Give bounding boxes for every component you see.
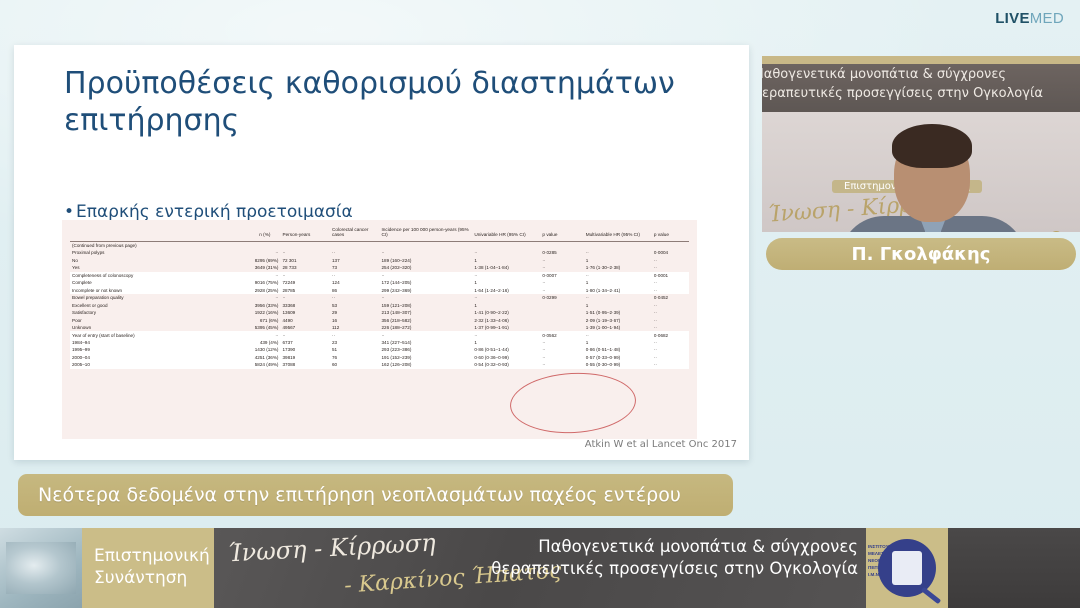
footer-institute-logo-circle [878, 539, 936, 597]
table-cell-value: 293 (223–386) [379, 346, 472, 353]
session-caption-text: Νεότερα δεδομένα στην επιτήρηση νεοπλασμ… [18, 484, 681, 506]
table-cell-value: ·· [379, 331, 472, 338]
table-cell-value: 16 [330, 317, 380, 324]
table-cell-value: 3649 (31%) [219, 264, 281, 271]
table-cell-value: 226 (188–272) [379, 324, 472, 331]
table-cell-value: 23 [330, 339, 380, 346]
col-header-person-years: Person-years [280, 226, 330, 241]
magnifier-icon [921, 587, 941, 604]
livemed-logo-med: MED [1030, 10, 1064, 27]
table-cell-value: ·· [379, 249, 472, 256]
table-cell-value: ·· [652, 361, 689, 368]
table-cell-value: 299 (242–369) [379, 287, 472, 294]
table-row: 2005–105824 (49%)3708860162 (126–208)0·5… [70, 361, 689, 368]
table-cell-value: ·· [540, 361, 583, 368]
table-cell-label: No [70, 257, 219, 264]
table-cell-value: 0·0001 [652, 272, 689, 279]
table-cell-value: ·· [472, 294, 540, 301]
table-cell-value: ·· [584, 294, 652, 301]
table-cell-value: 1 [584, 302, 652, 309]
table-row: Excellent or good3956 (33%)3336853159 (1… [70, 302, 689, 309]
table-cell-value: 39819 [280, 354, 330, 361]
table-cell-value: 5824 (49%) [219, 361, 281, 368]
table-cell-value: 76 [330, 354, 380, 361]
table-cell-value: 0·0004 [652, 249, 689, 256]
table-cell-value: ·· [540, 279, 583, 286]
table-cell-label: Yes [70, 264, 219, 271]
table-cell-value: ·· [652, 339, 689, 346]
table-cell-value: ·· [219, 249, 281, 256]
table-cell-label: Unknown [70, 324, 219, 331]
video-banner-strip [762, 56, 1080, 64]
table-cell-value: ·· [219, 294, 281, 301]
table-cell-value: 159 (121–208) [379, 302, 472, 309]
table-cell-value: 0·0299 [540, 294, 583, 301]
table-cell-value: 1922 (16%) [219, 309, 281, 316]
table-cell-value: ·· [330, 272, 380, 279]
table-cell-value: 9016 (75%) [219, 279, 281, 286]
table-cell-value: 8295 (69%) [219, 257, 281, 264]
table-cell-value: 86 [330, 287, 380, 294]
table-cell-value: 0·0682 [652, 331, 689, 338]
table-cell-value: 137 [330, 257, 380, 264]
table-cell-value: ·· [540, 257, 583, 264]
table-row: Incomplete or not known2928 (25%)2878586… [70, 287, 689, 294]
table-cell-value: 0·0452 [652, 294, 689, 301]
table-cell-value: 72249 [280, 279, 330, 286]
table-cell-value: 4251 (36%) [219, 354, 281, 361]
col-header-multivariable-hr: Multivariable HR (95% CI) [584, 226, 652, 241]
table-row: Bowel preparation quality··········0·029… [70, 294, 689, 301]
col-header-n: n (%) [219, 226, 281, 241]
table-cell-value: 1·51 (0·95–2·39) [584, 309, 652, 316]
stage-background: LIVEMED Προϋποθέσεις καθορισμού διαστημά… [0, 0, 1080, 608]
video-backdrop-banner: Παθογενετικά μονοπάτια & σύγχρονες θεραπ… [762, 64, 1080, 112]
table-cell-value: 1 [584, 257, 652, 264]
col-header-pvalue-1: p value [540, 226, 583, 241]
table-cell-value [540, 317, 583, 324]
footer-title-line2: θεραπευτικές προσεγγίσεις στην Ογκολογία [478, 558, 858, 580]
table-cell-value: ·· [472, 249, 540, 256]
table-cell-value: 439 (4%) [219, 339, 281, 346]
table-cell-value: 0·55 (0·30–0·99) [584, 361, 652, 368]
table-cell-value: 671 (6%) [219, 317, 281, 324]
slide-bullet-level1-text: Επαρκής εντερική προετοιμασία [76, 202, 353, 222]
col-header-incidence: Incidence per 100 000 person-years (95% … [379, 226, 472, 241]
table-cell-value: 1 [472, 279, 540, 286]
table-cell-value: ·· [219, 331, 281, 338]
table-header-row: n (%) Person-years Colorectal cancer cas… [70, 226, 689, 241]
livemed-logo: LIVEMED [995, 10, 1064, 27]
footer-meeting-label: Επιστημονική Συνάντηση [82, 528, 214, 608]
table-cell-value: 6737 [280, 339, 330, 346]
table-cell-value: ·· [330, 249, 380, 256]
table-row: 1995–991430 (12%)1739051293 (223–386)0·8… [70, 346, 689, 353]
table-cell-value: ·· [379, 294, 472, 301]
table-row: 1984–94439 (4%)673723341 (227–514)1··1·· [70, 339, 689, 346]
table-cell-value: 0·86 (0·51–1·44) [472, 346, 540, 353]
table-cell-value: ·· [652, 257, 689, 264]
table-cell-value: 17390 [280, 346, 330, 353]
table-row: Unknown5395 (45%)49567112226 (188–272)1·… [70, 324, 689, 331]
table-cell-label: Satisfactory [70, 309, 219, 316]
table-cell-label: 1984–94 [70, 339, 219, 346]
table-cell-value: ·· [472, 272, 540, 279]
table-cell-value: ·· [652, 302, 689, 309]
livemed-logo-live: LIVE [995, 10, 1030, 27]
table-cell-value: 1430 (12%) [219, 346, 281, 353]
table-cell-label: Bowel preparation quality [70, 294, 219, 301]
table-cell-value: 3956 (33%) [219, 302, 281, 309]
table-cell-value [540, 324, 583, 331]
table-cell-value: ·· [472, 331, 540, 338]
table-cell-label: 1995–99 [70, 346, 219, 353]
table-cell-value: 341 (227–514) [379, 339, 472, 346]
lancet-table: n (%) Person-years Colorectal cancer cas… [62, 220, 697, 439]
table-cell-value: ·· [540, 339, 583, 346]
video-banner-line1: Παθογενετικά μονοπάτια & σύγχρονες [762, 64, 1080, 83]
table-cell-value: 1·39 (1·00–1·94) [584, 324, 652, 331]
table-cell-value: ·· [219, 272, 281, 279]
table-cell-value: 2·32 (1·33–4·06) [472, 317, 540, 324]
footer-script-line1: Ίνωση - Κίρρωση [227, 529, 436, 568]
table-cell-value: 4490 [280, 317, 330, 324]
table-cell-value: ·· [584, 272, 652, 279]
table-cell-value: 254 (202–320) [379, 264, 472, 271]
table-cell-value: ·· [652, 287, 689, 294]
col-header-crc-cases: Colorectal cancer cases [330, 226, 380, 241]
footer-meeting-line1: Επιστημονική [94, 546, 210, 568]
table-cell-value: ·· [280, 272, 330, 279]
col-header-blank [70, 226, 219, 241]
table-cell-label: Excellent or good [70, 302, 219, 309]
speaker-video-panel[interactable]: Παθογενετικά μονοπάτια & σύγχρονες θεραπ… [762, 56, 1080, 232]
table-cell-value: 1 [584, 279, 652, 286]
footer-title-line1: Παθογενετικά μονοπάτια & σύγχρονες [478, 536, 858, 558]
table-cell-value: 191 (152–239) [379, 354, 472, 361]
table-cell-value: 0·0285 [540, 249, 583, 256]
table-cell-value: 189 (160–224) [379, 257, 472, 264]
table-cell-value: ·· [540, 354, 583, 361]
video-banner-line2: θεραπευτικές προσεγγίσεις στην Ογκολογία [762, 83, 1080, 102]
table-cell-value: 213 (148–307) [379, 309, 472, 316]
table-cell-value: 2928 (25%) [219, 287, 281, 294]
table-cell-value: 0·54 (0·32–0·93) [472, 361, 540, 368]
table-cell-label: Complete [70, 279, 219, 286]
table-cell-value: 356 (218–582) [379, 317, 472, 324]
footer-meeting-line2: Συνάντηση [94, 568, 210, 590]
table-cell-value: 1 [472, 302, 540, 309]
speaker-nameplate: Π. Γκολφάκης [766, 238, 1076, 270]
table-cell-value: 37088 [280, 361, 330, 368]
table-cell-label: 2000–04 [70, 354, 219, 361]
video-wall: Επιστημονική Συνάντηση Ίνωση - Κίρρωση -… [762, 112, 1080, 232]
table-cell-value: 1·38 (1·04–1·84) [472, 264, 540, 271]
table-row: Completeness of colonoscopy··········0·0… [70, 272, 689, 279]
table-head: n (%) Person-years Colorectal cancer cas… [70, 226, 689, 241]
table-cell-value: 1·37 (0·99–1·91) [472, 324, 540, 331]
table-cell-value: 73 [330, 264, 380, 271]
bullet-dot-icon: • [64, 202, 76, 222]
table-cell-value: 2·09 (1·19–3·67) [584, 317, 652, 324]
table-cell-value: ·· [584, 331, 652, 338]
table-row: Year of entry (start of baseline)·······… [70, 331, 689, 338]
slide-bullet-level1: •Επαρκής εντερική προετοιμασία [64, 202, 353, 222]
table-cell-value: 1·76 (1·30–2·38) [584, 264, 652, 271]
presentation-slide[interactable]: Προϋποθέσεις καθορισμού διαστημάτων επιτ… [14, 45, 749, 460]
table-cell-value [540, 309, 583, 316]
table-row: Poor671 (6%)449016356 (218–582)2·32 (1·3… [70, 317, 689, 324]
table-cell-value: ·· [652, 264, 689, 271]
table-row: Complete9016 (75%)72249124172 (144–205)1… [70, 279, 689, 286]
col-header-univariable-hr: Univariable HR (95% CI) [472, 226, 540, 241]
speaker-hair [892, 124, 972, 168]
table-cell-value: 0·0562 [540, 331, 583, 338]
table-cell-value: 112 [330, 324, 380, 331]
table-cell-value [540, 302, 583, 309]
speaker-name: Π. Γκολφάκης [852, 244, 991, 265]
table-cell-value: 172 (144–205) [379, 279, 472, 286]
table-cell-value: 0·57 (0·33–0·99) [584, 354, 652, 361]
table-cell-label: Year of entry (start of baseline) [70, 331, 219, 338]
footer-artwork-image [0, 528, 82, 608]
table-cell-label: Proximal polyps [70, 249, 219, 256]
table-row: Proximal polyps··········0·0285··0·0004 [70, 249, 689, 256]
table-cell-value: 1 [472, 257, 540, 264]
table-row-continued-note: (Continued from previous page) [70, 241, 689, 249]
footer-center: Ίνωση - Κίρρωση - Καρκίνος Ήπατος Παθογε… [214, 528, 866, 608]
table-cell-value: ·· [652, 317, 689, 324]
table-cell-value: ·· [330, 331, 380, 338]
table-cell-value: 28 733 [280, 264, 330, 271]
table-cell-value: ·· [652, 324, 689, 331]
table-cell-value: 1·80 (1·34–2·41) [584, 287, 652, 294]
table-cell-value: ·· [280, 294, 330, 301]
table-cell-label: Completeness of colonoscopy [70, 272, 219, 279]
table-cell-value: 53 [330, 302, 380, 309]
slide-title: Προϋποθέσεις καθορισμού διαστημάτων επιτ… [64, 65, 704, 139]
table-row: Satisfactory1922 (16%)1360929213 (148–30… [70, 309, 689, 316]
table-body: (Continued from previous page)Proximal p… [70, 241, 689, 368]
table-cell-value: ·· [280, 249, 330, 256]
table-cell-value: 0·0007 [540, 272, 583, 279]
citation-text: Atkin W et al Lancet Onc 2017 [585, 439, 737, 450]
table-cell-value: 72 301 [280, 257, 330, 264]
table-row: No8295 (69%)72 301137189 (160–224)1··1·· [70, 257, 689, 264]
footer-title: Παθογενετικά μονοπάτια & σύγχρονες θεραπ… [478, 536, 858, 581]
table-cell-label: Poor [70, 317, 219, 324]
table-cell-value: 60 [330, 361, 380, 368]
table-cell-value: 49567 [280, 324, 330, 331]
footer-right-end [948, 528, 1080, 608]
table-cell-value: 5395 (45%) [219, 324, 281, 331]
table-cell-value: ·· [652, 279, 689, 286]
data-table: n (%) Person-years Colorectal cancer cas… [70, 226, 689, 369]
table-cell-value: 28785 [280, 287, 330, 294]
table-cell-value: 124 [330, 279, 380, 286]
table-cell-value: 1 [584, 339, 652, 346]
footer-institute-logo: ΙΝΣΤΙΤΟΥΤΟ ΜΕΛΕΤΗΣ ΝΕΟΠΛΑΣΜΑΤΩΝ ΠΕΠΤΙΚΟΥ… [866, 528, 948, 608]
table-cell-value: ·· [280, 331, 330, 338]
table-cell-value: ·· [379, 272, 472, 279]
table-cell-value: ·· [584, 249, 652, 256]
table-cell-value: ·· [540, 264, 583, 271]
footer-meeting-label-lines: Επιστημονική Συνάντηση [82, 546, 210, 590]
footer-bar: Επιστημονική Συνάντηση Ίνωση - Κίρρωση -… [0, 528, 1080, 608]
table-cell-value: 1·64 (1·24–2·16) [472, 287, 540, 294]
table-cell-value: 51 [330, 346, 380, 353]
table-cell-value: ·· [540, 346, 583, 353]
table-cell-value: ·· [652, 309, 689, 316]
table-cell-value: 1 [472, 339, 540, 346]
table-cell-value: ·· [652, 354, 689, 361]
table-cell-value: ·· [540, 287, 583, 294]
table-cell-value: ·· [330, 294, 380, 301]
table-row: 2000–044251 (36%)3981976191 (152–239)0·6… [70, 354, 689, 361]
col-header-pvalue-2: p value [652, 226, 689, 241]
table-cell-value: 162 (126–208) [379, 361, 472, 368]
session-caption-banner: Νεότερα δεδομένα στην επιτήρηση νεοπλασμ… [18, 474, 733, 516]
table-cell-value: 0·86 (0·51–1·48) [584, 346, 652, 353]
table-cell-value: 0·60 (0·36–0·99) [472, 354, 540, 361]
table-cell-label: Incomplete or not known [70, 287, 219, 294]
table-cell-value: 29 [330, 309, 380, 316]
table-row: Yes3649 (31%)28 73373254 (202–320)1·38 (… [70, 264, 689, 271]
table-cell-value: 33368 [280, 302, 330, 309]
table-cell-label: 2005–10 [70, 361, 219, 368]
continued-note: (Continued from previous page) [70, 241, 689, 249]
table-cell-value: 13609 [280, 309, 330, 316]
table-cell-value: 1·41 (0·90–2·22) [472, 309, 540, 316]
table-cell-value: ·· [652, 346, 689, 353]
